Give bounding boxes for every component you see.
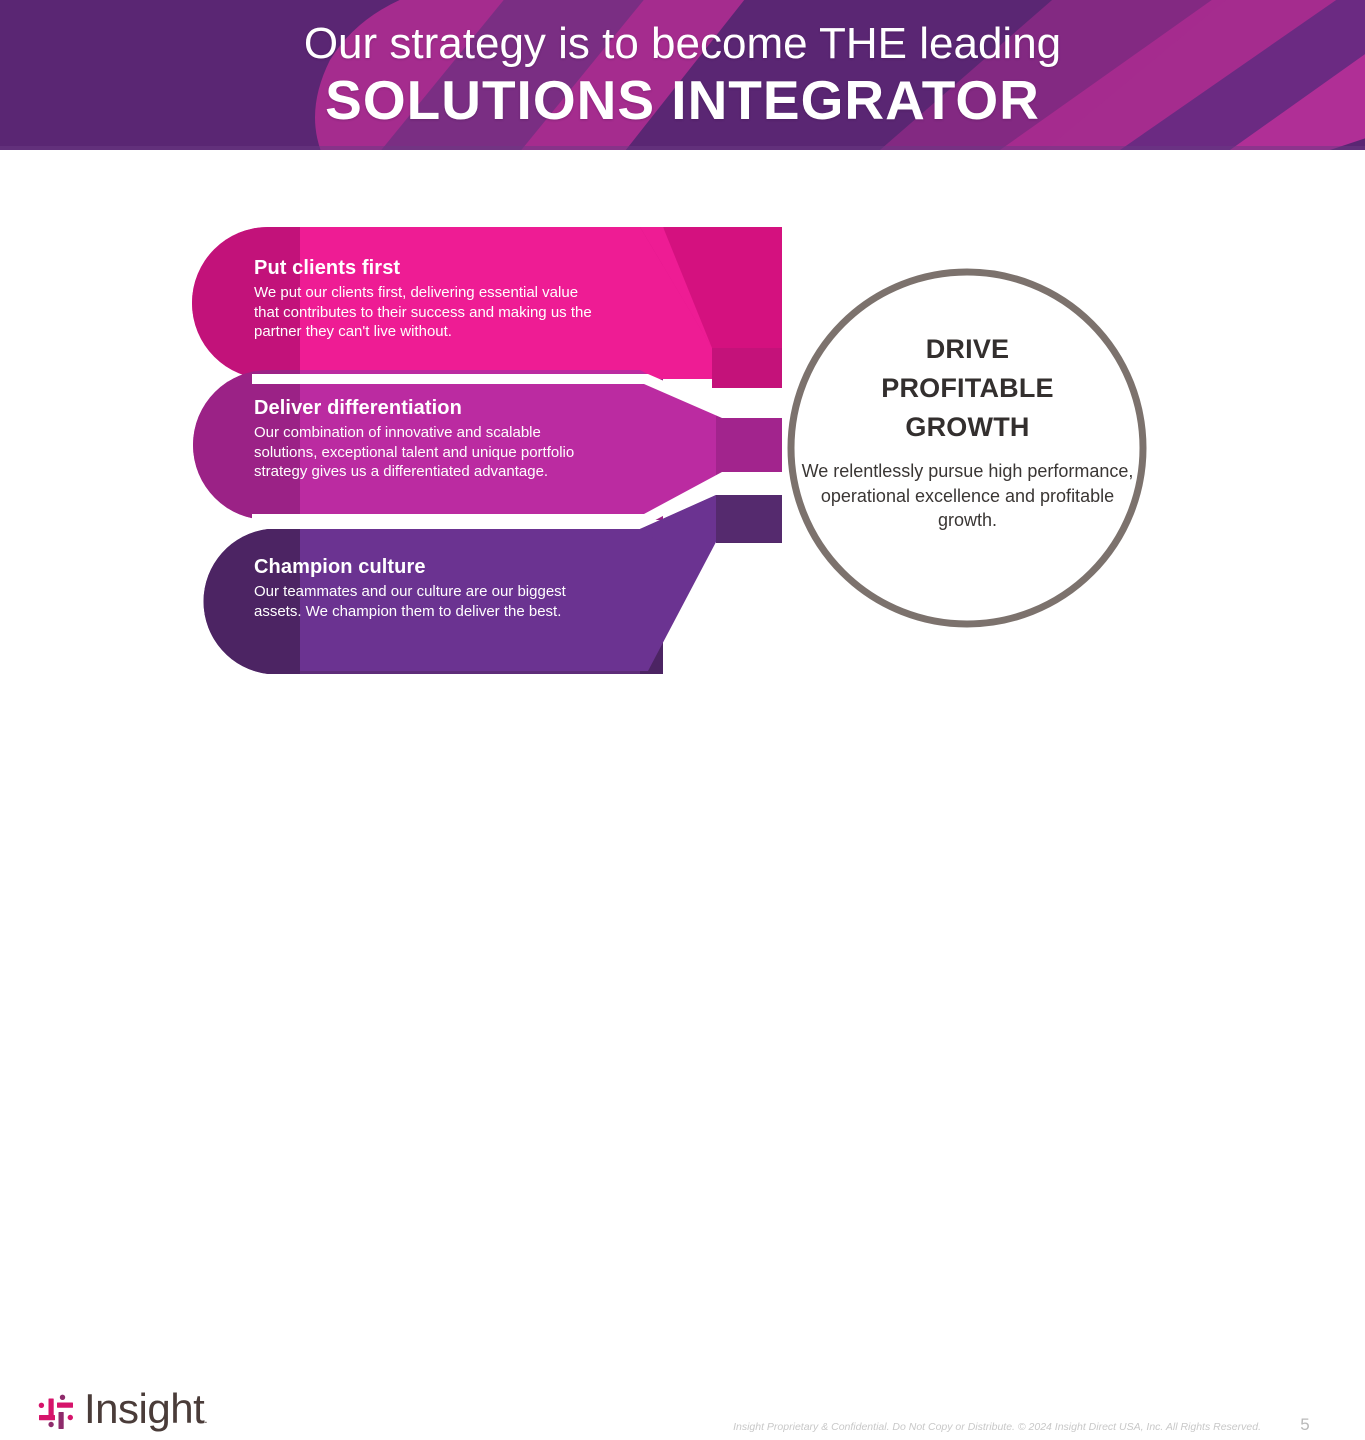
funnel-bar-2-heading: Deliver differentiation [254, 395, 594, 421]
funnel-bar-1-body: We put our clients first, delivering ess… [254, 283, 604, 342]
funnel-bar-1-text: Put clients first We put our clients fir… [254, 255, 604, 342]
confidentiality-notice: Insight Proprietary & Confidential. Do N… [683, 1420, 1261, 1434]
insight-logo-registered: . [204, 1412, 207, 1426]
bar-1-neck [712, 348, 782, 388]
slide-title-line-2: SOLUTIONS INTEGRATOR [325, 69, 1040, 131]
insight-logo-wordmark: Insight. [84, 1388, 207, 1440]
page-number: 5 [1290, 1414, 1320, 1436]
funnel-bar-2-text: Deliver differentiation Our combination … [254, 395, 594, 482]
slide-footer: Insight. Insight Proprietary & Confident… [0, 690, 1365, 768]
bar-3-neck [716, 495, 782, 542]
slide-root: Our strategy is to become THE leading SO… [0, 0, 1365, 768]
header-text-block: Our strategy is to become THE leading SO… [0, 0, 1365, 150]
funnel-bar-3-body: Our teammates and our culture are our bi… [254, 582, 609, 621]
insight-logo-mark-icon [35, 1393, 77, 1435]
circle-heading-line-1: DRIVE [795, 330, 1140, 369]
funnel-shapes [0, 150, 1365, 690]
strategy-funnel-diagram: Put clients first We put our clients fir… [0, 150, 1365, 690]
insight-logo[interactable]: Insight. [35, 1390, 235, 1438]
circle-text-block: DRIVE PROFITABLE GROWTH We relentlessly … [795, 330, 1140, 533]
bar-2-neck [716, 412, 782, 477]
circle-body: We relentlessly pursue high performance,… [795, 459, 1140, 533]
funnel-bar-1-heading: Put clients first [254, 255, 604, 281]
header-banner: Our strategy is to become THE leading SO… [0, 0, 1365, 150]
circle-heading-line-2: PROFITABLE [795, 369, 1140, 408]
funnel-bar-3-heading: Champion culture [254, 554, 609, 580]
circle-heading: DRIVE PROFITABLE GROWTH [795, 330, 1140, 447]
slide-title-line-1: Our strategy is to become THE leading [304, 19, 1061, 69]
funnel-bar-2-body: Our combination of innovative and scalab… [254, 423, 594, 482]
funnel-bar-3-text: Champion culture Our teammates and our c… [254, 554, 609, 621]
circle-heading-line-3: GROWTH [795, 408, 1140, 447]
insight-logo-word-text: Insight [84, 1385, 204, 1432]
